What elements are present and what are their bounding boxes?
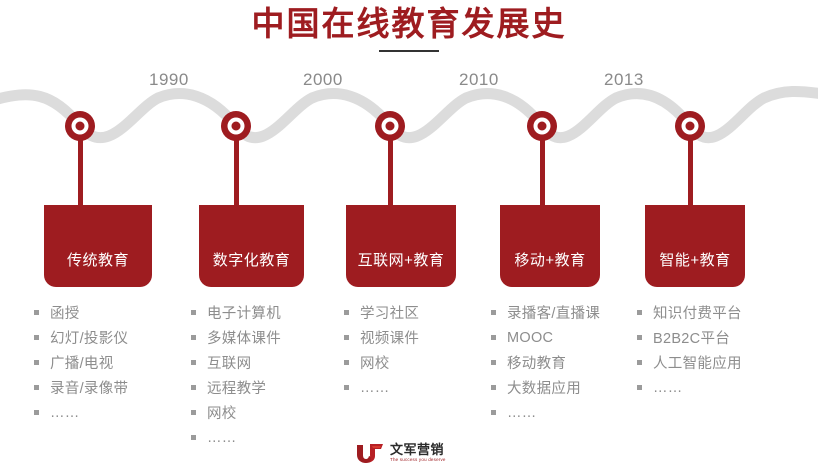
timeline-pin-marker-1[interactable]	[65, 111, 95, 141]
page-title: 中国在线教育发展史	[0, 4, 818, 44]
logo-company-name: 文军营销	[390, 443, 446, 456]
bullet-square-icon	[637, 385, 642, 390]
list-item-label: 网校	[207, 402, 237, 423]
stage-card-4[interactable]: 移动+教育	[500, 205, 600, 287]
stage-items-column-1: 函授幻灯/投影仪广播/电视录音/录像带……	[34, 300, 128, 425]
bullet-square-icon	[191, 360, 196, 365]
stage-card-3[interactable]: 互联网+教育	[346, 205, 456, 287]
bullet-square-icon	[344, 335, 349, 340]
bullet-square-icon	[191, 410, 196, 415]
bullet-square-icon	[344, 310, 349, 315]
list-item: 学习社区	[344, 300, 419, 325]
bullet-square-icon	[491, 410, 496, 415]
logo-text-block: 文军营销 The success you deserve	[390, 443, 446, 463]
timeline-pin-marker-5[interactable]	[675, 111, 705, 141]
bullet-square-icon	[637, 335, 642, 340]
bullet-square-icon	[191, 385, 196, 390]
list-item-label: ……	[360, 380, 390, 396]
uj-logo-icon	[355, 443, 385, 464]
list-item: 远程教学	[191, 375, 281, 400]
list-item: 多媒体课件	[191, 325, 281, 350]
stage-items-column-5: 知识付费平台B2B2C平台人工智能应用……	[637, 300, 742, 400]
list-item: ……	[491, 400, 600, 425]
list-item-label: 多媒体课件	[207, 327, 281, 348]
list-item-label: B2B2C平台	[653, 327, 730, 348]
bullet-square-icon	[34, 360, 39, 365]
bullet-square-icon	[491, 360, 496, 365]
list-item-label: 大数据应用	[507, 377, 581, 398]
list-item: 录音/录像带	[34, 375, 128, 400]
pin-core-dot-2	[232, 122, 241, 131]
bullet-square-icon	[34, 335, 39, 340]
list-item: 视频课件	[344, 325, 419, 350]
list-item-label: ……	[507, 405, 537, 421]
list-item-label: 电子计算机	[207, 302, 281, 323]
pin-core-dot-3	[386, 122, 395, 131]
bullet-square-icon	[344, 385, 349, 390]
stage-items-column-4: 录播客/直播课MOOC移动教育大数据应用……	[491, 300, 600, 425]
bullet-square-icon	[191, 435, 196, 440]
list-item: 网校	[344, 350, 419, 375]
bullet-square-icon	[637, 360, 642, 365]
list-item-label: 录音/录像带	[50, 377, 128, 398]
stage-card-5[interactable]: 智能+教育	[645, 205, 745, 287]
list-item: ……	[34, 400, 128, 425]
pin-core-dot-1	[76, 122, 85, 131]
list-item: 录播客/直播课	[491, 300, 600, 325]
list-item: 电子计算机	[191, 300, 281, 325]
list-item: 大数据应用	[491, 375, 600, 400]
list-item: B2B2C平台	[637, 325, 742, 350]
bullet-square-icon	[491, 310, 496, 315]
bullet-square-icon	[191, 310, 196, 315]
stage-card-label-2: 数字化教育	[213, 249, 291, 270]
list-item: 函授	[34, 300, 128, 325]
list-item-label: 视频课件	[360, 327, 419, 348]
list-item-label: 移动教育	[507, 352, 566, 373]
bullet-square-icon	[34, 385, 39, 390]
stage-items-column-2: 电子计算机多媒体课件互联网远程教学网校……	[191, 300, 281, 450]
bullet-square-icon	[191, 335, 196, 340]
list-item: 互联网	[191, 350, 281, 375]
bullet-square-icon	[344, 360, 349, 365]
list-item: ……	[637, 375, 742, 400]
list-item-label: MOOC	[507, 330, 553, 346]
list-item: MOOC	[491, 325, 600, 350]
bullet-square-icon	[637, 310, 642, 315]
list-item-label: 录播客/直播课	[507, 302, 600, 323]
timeline-pin-marker-4[interactable]	[527, 111, 557, 141]
list-item-label: 学习社区	[360, 302, 419, 323]
stage-card-label-1: 传统教育	[67, 249, 129, 270]
list-item-label: 函授	[50, 302, 80, 323]
list-item-label: 网校	[360, 352, 390, 373]
list-item: ……	[191, 425, 281, 450]
logo-tagline: The success you deserve	[390, 456, 446, 463]
list-item: ……	[344, 375, 419, 400]
list-item-label: 广播/电视	[50, 352, 114, 373]
pin-core-dot-4	[538, 122, 547, 131]
page-title-block: 中国在线教育发展史	[0, 4, 818, 52]
list-item-label: ……	[207, 430, 237, 446]
bullet-square-icon	[491, 335, 496, 340]
stage-items-column-3: 学习社区视频课件网校……	[344, 300, 419, 400]
stage-card-label-5: 智能+教育	[659, 249, 730, 270]
title-underline-divider	[379, 50, 439, 52]
list-item-label: 人工智能应用	[653, 352, 742, 373]
bullet-square-icon	[34, 410, 39, 415]
list-item: 移动教育	[491, 350, 600, 375]
brand-logo: 文军营销 The success you deserve	[355, 441, 470, 465]
list-item: 网校	[191, 400, 281, 425]
list-item-label: 互联网	[207, 352, 251, 373]
list-item: 知识付费平台	[637, 300, 742, 325]
list-item-label: 远程教学	[207, 377, 266, 398]
list-item-label: ……	[653, 380, 683, 396]
pin-core-dot-5	[686, 122, 695, 131]
list-item: 广播/电视	[34, 350, 128, 375]
stage-card-1[interactable]: 传统教育	[44, 205, 152, 287]
timeline-pin-marker-2[interactable]	[221, 111, 251, 141]
bullet-square-icon	[491, 385, 496, 390]
stage-card-label-3: 互联网+教育	[358, 249, 445, 270]
list-item: 人工智能应用	[637, 350, 742, 375]
stage-card-label-4: 移动+教育	[514, 249, 585, 270]
list-item: 幻灯/投影仪	[34, 325, 128, 350]
list-item-label: 知识付费平台	[653, 302, 742, 323]
list-item-label: ……	[50, 405, 80, 421]
bullet-square-icon	[34, 310, 39, 315]
timeline-pin-marker-3[interactable]	[375, 111, 405, 141]
list-item-label: 幻灯/投影仪	[50, 327, 128, 348]
stage-card-2[interactable]: 数字化教育	[199, 205, 304, 287]
